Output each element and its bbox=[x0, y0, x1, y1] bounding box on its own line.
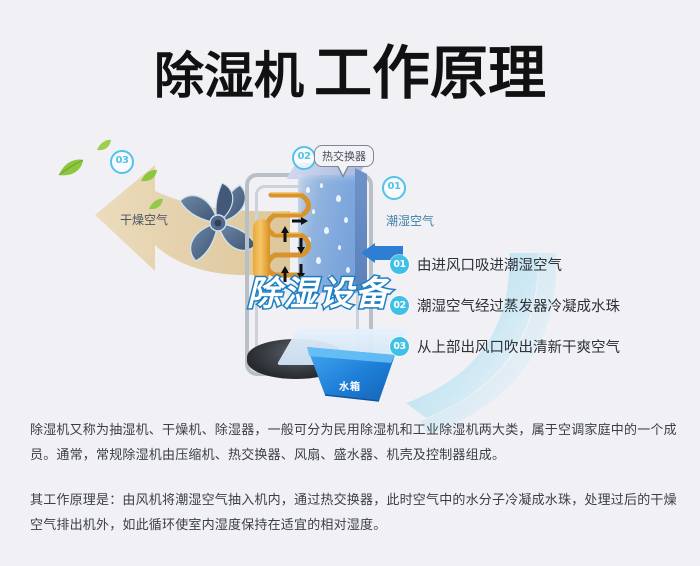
heat-exchanger-callout-label: 热交换器 bbox=[322, 150, 366, 163]
step-text: 由进风口吸进潮湿空气 bbox=[417, 254, 562, 275]
step-text: 从上部出风口吹出清新干爽空气 bbox=[417, 336, 620, 357]
diagram-label-dry-air: 干燥空气 bbox=[120, 211, 168, 228]
leaf-icon bbox=[148, 198, 164, 211]
step-badge: 02 bbox=[390, 296, 409, 315]
heat-exchanger-callout: 热交换器 bbox=[314, 145, 374, 167]
diagram-badge-01: 01 bbox=[382, 176, 406, 200]
diagram-badge-02: 02 bbox=[292, 146, 316, 170]
diagram-label-humid-air: 潮湿空气 bbox=[386, 212, 434, 229]
page-title-part2: 工作原理 bbox=[314, 39, 546, 107]
poster-root: 除湿机工作原理 bbox=[0, 0, 700, 566]
step-badge: 01 bbox=[390, 255, 409, 274]
step-text: 潮湿空气经过蒸发器冷凝成水珠 bbox=[417, 295, 620, 316]
leaf-icon bbox=[140, 169, 158, 183]
water-tank-icon bbox=[305, 345, 397, 407]
page-title-part1: 除湿机 bbox=[154, 47, 304, 105]
leaf-icon bbox=[58, 158, 84, 178]
page-title: 除湿机工作原理 bbox=[0, 26, 700, 110]
paragraph: 其工作原理是：由风机将潮湿空气抽入机内，通过热交换器，此时空气中的水分子冷凝成水… bbox=[30, 488, 678, 538]
step-badge: 03 bbox=[390, 337, 409, 356]
leaf-icon bbox=[96, 139, 112, 152]
list-item: 01 由进风口吸进潮湿空气 bbox=[390, 253, 690, 275]
body-copy: 除湿机又称为抽湿机、干燥机、除湿器，一般可分为民用除湿机和工业除湿机两大类，属于… bbox=[30, 418, 678, 558]
diagram-badge-03: 03 bbox=[110, 150, 134, 174]
paragraph: 除湿机又称为抽湿机、干燥机、除湿器，一般可分为民用除湿机和工业除湿机两大类，属于… bbox=[30, 418, 678, 468]
water-tank-label: 水箱 bbox=[339, 378, 361, 393]
list-item: 03 从上部出风口吹出清新干爽空气 bbox=[390, 335, 690, 357]
list-item: 02 潮湿空气经过蒸发器冷凝成水珠 bbox=[390, 294, 690, 316]
watermark-text: 除湿设备 bbox=[247, 266, 391, 315]
steps-list: 01 由进风口吸进潮湿空气 02 潮湿空气经过蒸发器冷凝成水珠 03 从上部出风… bbox=[390, 253, 690, 376]
